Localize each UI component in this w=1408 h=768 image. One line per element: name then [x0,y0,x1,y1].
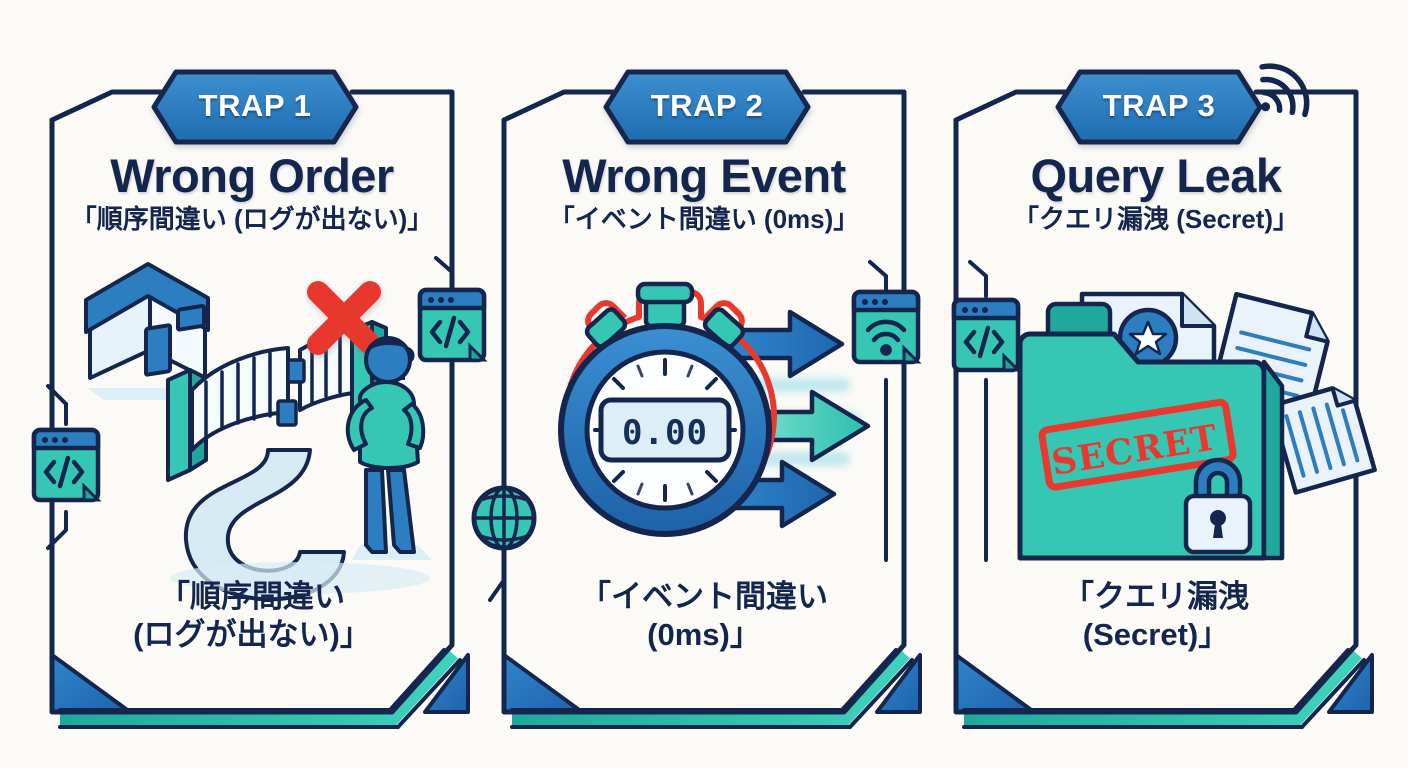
panel-heading-3: Query Leak 「クエリ漏洩 (Secret)」 [956,152,1356,235]
panel-caption-3: 「クエリ漏洩 (Secret)」 [966,578,1346,654]
stopwatch-display: 0.00 [601,413,729,453]
lock-icon [1186,460,1250,552]
infographic-stage: ? [0,0,1408,768]
page-subtitle: 「順序間違い (ログが出ない)」 [52,205,452,235]
page-title: Query Leak [956,152,1356,199]
caption-line-1: 「クエリ漏洩 [966,578,1346,616]
page-subtitle: 「クエリ漏洩 (Secret)」 [956,205,1356,235]
illustration-wrong-order: ? [34,258,484,599]
page-title: Wrong Order [52,152,452,199]
trap-banner-label-3: TRAP 3 [1058,88,1260,124]
caption-line-1: 「イベント間違い [514,578,894,616]
code-window-badge [34,386,98,548]
caption-line-1: 「順序間違い [62,578,442,616]
code-window-badge [954,262,1018,560]
document-icon [1271,383,1375,492]
page-subtitle: 「イベント間違い (0ms)」 [504,205,904,235]
trap-banner-label-1: TRAP 1 [154,88,356,124]
page-title: Wrong Event [504,152,904,199]
caption-line-2: (ログが出ない)」 [62,616,442,654]
caption-line-2: (0ms)」 [514,616,894,654]
stopwatch-icon [561,284,774,534]
panel-heading-2: Wrong Event 「イベント間違い (0ms)」 [504,152,904,235]
caption-line-2: (Secret)」 [966,616,1346,654]
panel-caption-1: 「順序間違い (ログが出ない)」 [62,578,442,654]
illustration-wrong-event [561,284,868,534]
panel-heading-1: Wrong Order 「順序間違い (ログが出ない)」 [52,152,452,235]
wifi-window-badge [854,262,918,560]
panel-caption-2: 「イベント間違い (0ms)」 [514,578,894,654]
trap-banner-label-2: TRAP 2 [606,88,808,124]
